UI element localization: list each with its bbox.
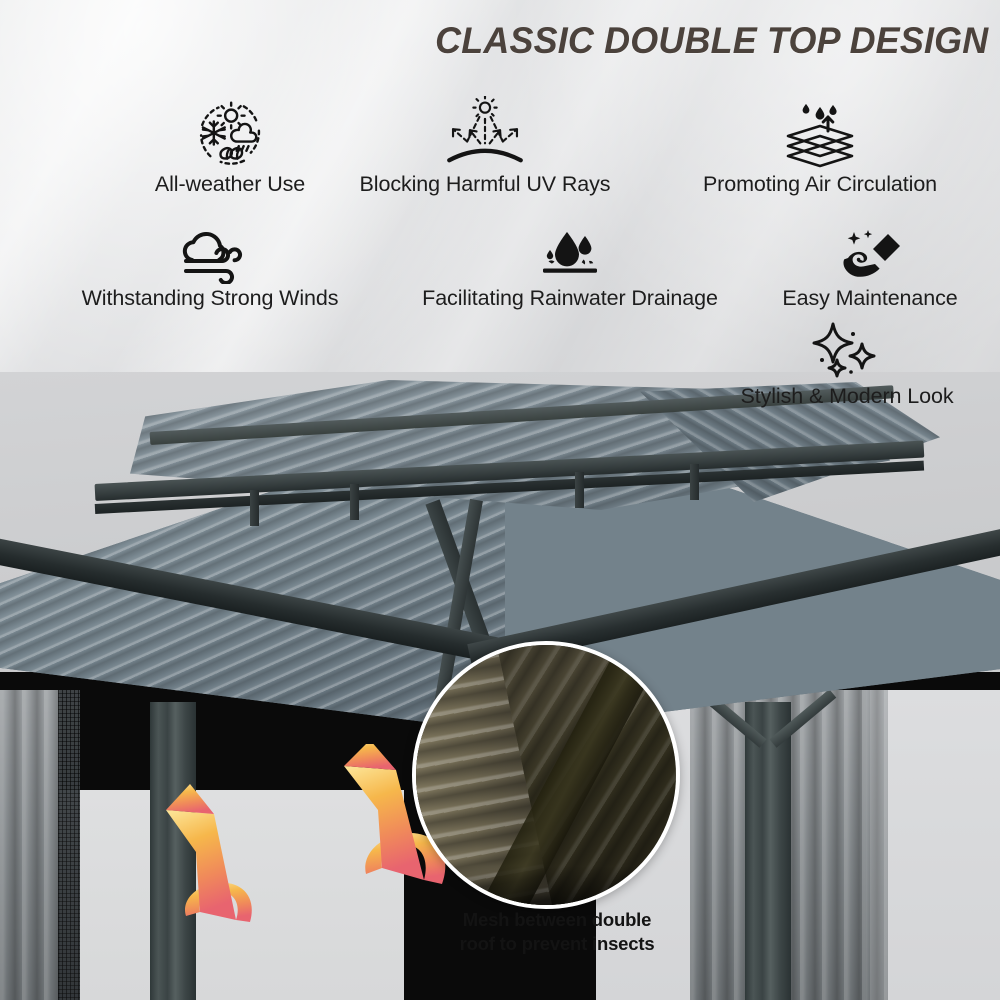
feature-label: Easy Maintenance (760, 286, 980, 311)
feature-label: All-weather Use (110, 172, 350, 197)
feature-easy-maintenance: Easy Maintenance (760, 228, 980, 311)
magnifier-image (412, 641, 680, 909)
water-droplet-icon (537, 228, 603, 284)
magnifier-detail-circle (412, 641, 680, 909)
page-title: CLASSIC DOUBLE TOP DESIGN (435, 20, 988, 62)
vent-strut-3 (575, 472, 584, 508)
feature-label: Promoting Air Circulation (675, 172, 965, 197)
feature-strong-winds: Withstanding Strong Winds (55, 228, 365, 311)
sparkles-icon (807, 320, 887, 382)
product-infographic: CLASSIC DOUBLE TOP DESIGN (0, 0, 1000, 1000)
magnifier-caption-line1: Mesh between double (463, 909, 651, 930)
magnifier-caption-line2: roof to prevent insects (460, 933, 655, 954)
feature-label: Facilitating Rainwater Drainage (390, 286, 750, 311)
layers-airflow-icon (780, 96, 860, 170)
feature-label: Stylish & Modern Look (712, 384, 982, 409)
feature-modern-look: Stylish & Modern Look (712, 320, 982, 409)
vent-strut-4 (690, 464, 699, 500)
vent-strut-1 (250, 490, 259, 526)
feature-label: Withstanding Strong Winds (55, 286, 365, 311)
feature-air-circulation: Promoting Air Circulation (675, 96, 965, 197)
vent-strut-2 (350, 484, 359, 520)
weather-circle-icon (193, 96, 267, 170)
cloud-wind-icon (172, 228, 248, 284)
magnifier-caption: Mesh between double roof to prevent inse… (447, 908, 667, 957)
feature-rain-drainage: Facilitating Rainwater Drainage (390, 228, 750, 311)
sun-reflect-icon (438, 96, 532, 170)
feature-uv-rays: Blocking Harmful UV Rays (340, 96, 630, 197)
hand-wipe-sparkle-icon (838, 228, 902, 284)
feature-all-weather: All-weather Use (110, 96, 350, 197)
airflow-arrow-left (166, 784, 252, 922)
feature-label: Blocking Harmful UV Rays (340, 172, 630, 197)
magnifier-shadow (412, 866, 680, 909)
